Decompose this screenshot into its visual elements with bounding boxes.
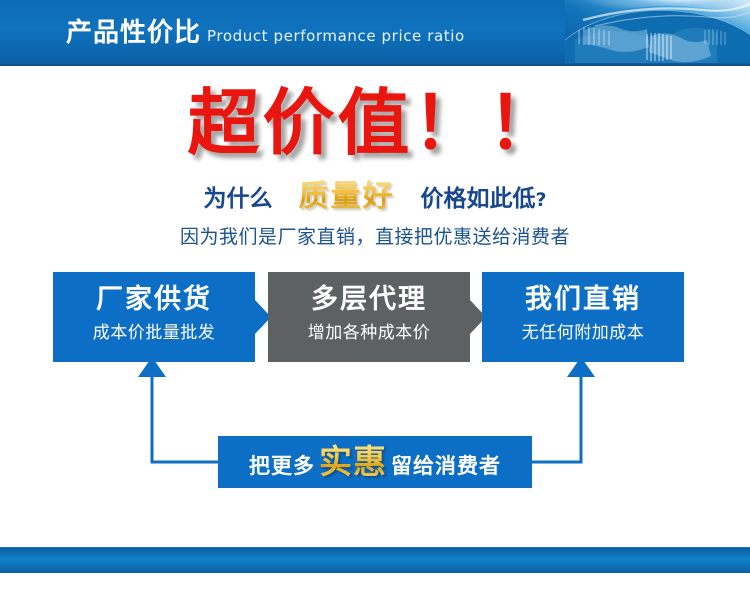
flow-box-title: 我们直销 [482, 284, 684, 316]
bottom-banner[interactable]: 把更多实惠留给消费者 [218, 436, 532, 488]
subtitle-highlight: 质量好 [298, 179, 394, 214]
header-title-chinese: 产品性价比 [66, 18, 201, 48]
subtitle-question-mark: ? [535, 189, 546, 211]
promo-banner-page: 产品性价比 Product performance price ratio 超价… [0, 0, 750, 590]
subtitle-question-part1: 为什么 [203, 186, 272, 212]
main-headline: 超价值！！ [0, 82, 750, 164]
arrow-up-icon-right [528, 357, 595, 462]
banner-text-before: 把更多 [249, 454, 315, 478]
subtitle-highlight-wrap: 质量好 [272, 180, 420, 218]
header-title-english: Product performance price ratio [207, 27, 465, 46]
header-divider [0, 63, 750, 66]
page-footer [0, 548, 750, 573]
flow-box-subtitle: 增加各种成本价 [268, 322, 470, 344]
supply-chain-flow: 厂家供货 成本价批量批发 多层代理 增加各种成本价 我们直销 无任何附加成本 [0, 272, 750, 362]
subtitle-row: 为什么质量好价格如此低? [0, 180, 750, 218]
flow-box-title: 多层代理 [268, 284, 470, 316]
flow-box-subtitle: 无任何附加成本 [482, 322, 684, 344]
world-globe-graphic [565, 0, 750, 66]
subtitle-explanation: 因为我们是厂家直销，直接把优惠送给消费者 [0, 224, 750, 250]
arrow-up-icon-left [138, 357, 222, 462]
flow-box-direct-sales[interactable]: 我们直销 无任何附加成本 [482, 272, 684, 362]
flow-box-manufacturer[interactable]: 厂家供货 成本价批量批发 [53, 272, 255, 362]
banner-highlight: 实惠 [319, 442, 387, 481]
banner-highlight-wrap: 实惠 [315, 436, 391, 494]
flow-box-subtitle: 成本价批量批发 [53, 322, 255, 344]
banner-text-after: 留给消费者 [391, 454, 501, 478]
flow-box-agents[interactable]: 多层代理 增加各种成本价 [268, 272, 470, 362]
subtitle-question-part2: 价格如此低 [420, 186, 535, 212]
page-header: 产品性价比 Product performance price ratio [0, 0, 750, 66]
flow-box-title: 厂家供货 [53, 284, 255, 316]
